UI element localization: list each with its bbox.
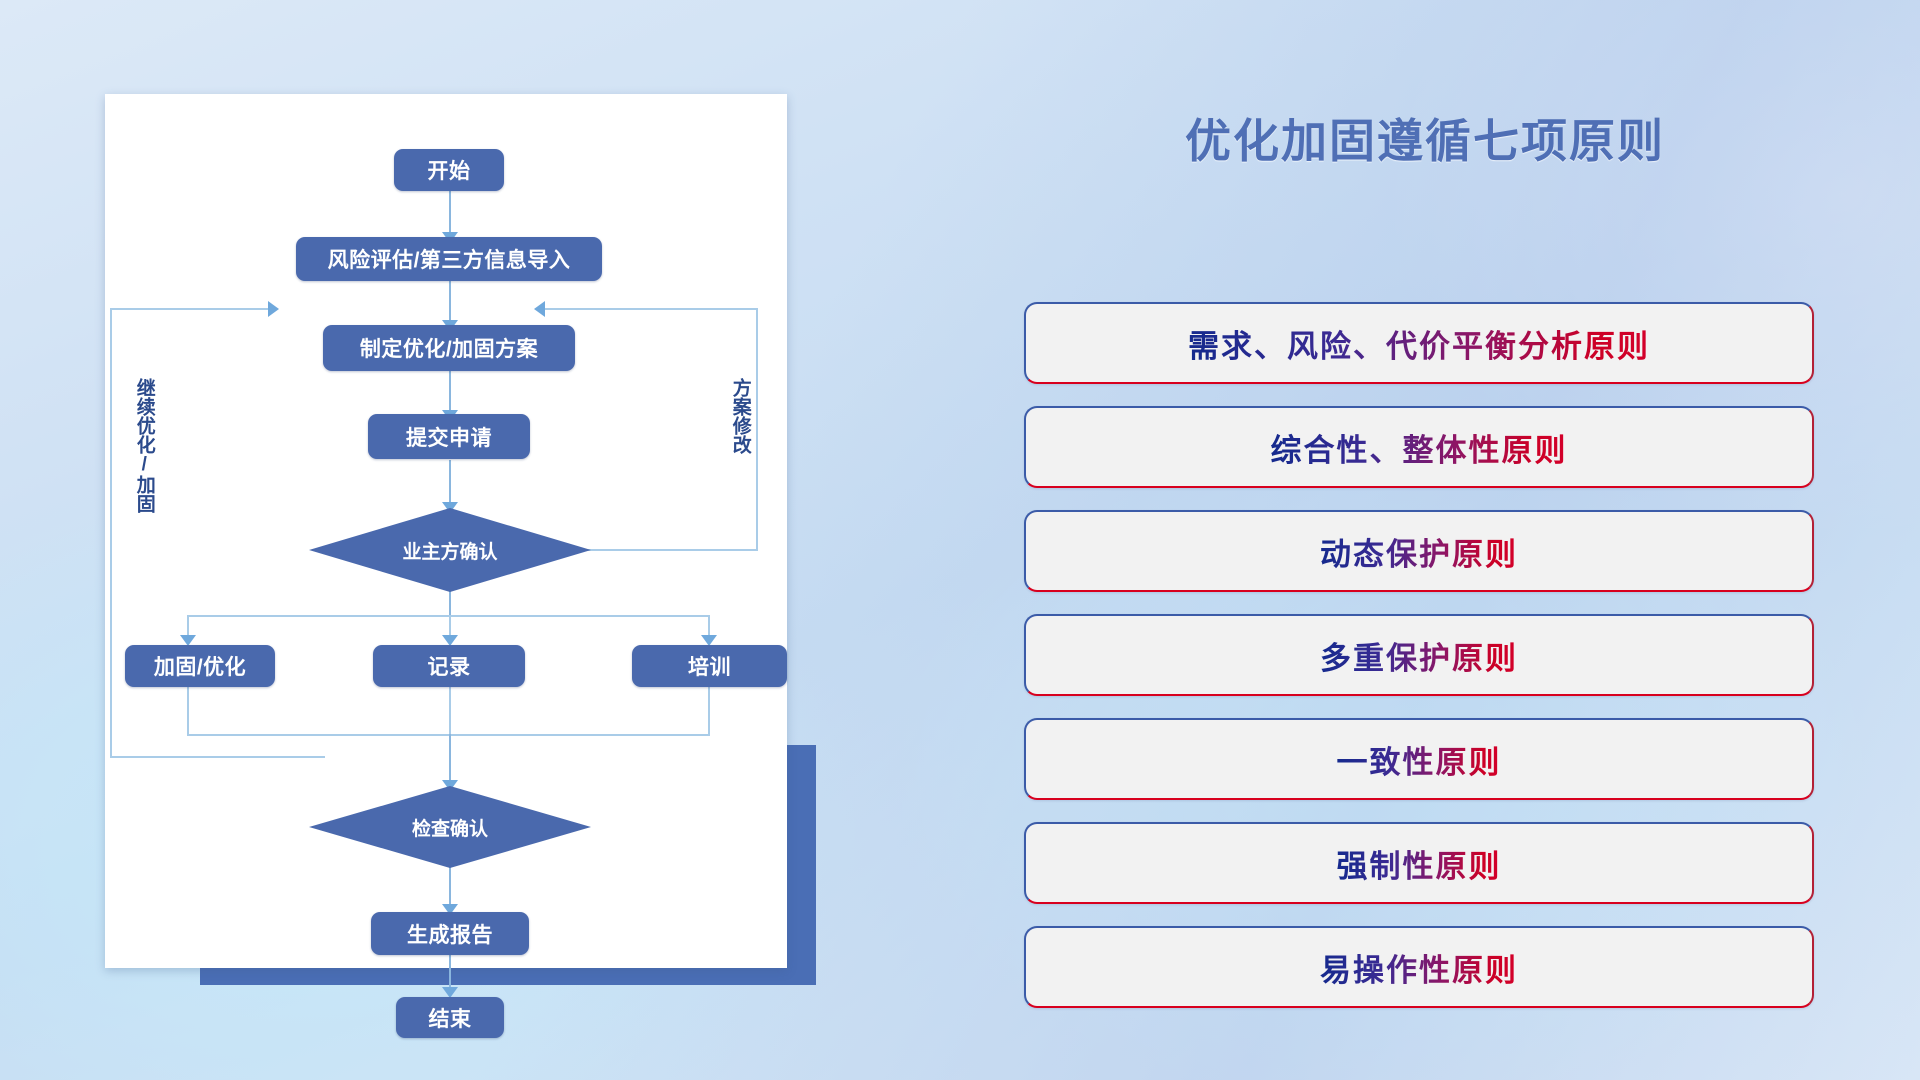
connector-rightloop-vertical	[756, 308, 758, 550]
connector-merge-to-checkcfm	[449, 734, 451, 784]
connector-ownercfm-down	[449, 591, 451, 617]
flow-node-check-confirm[interactable]: 检查确认	[309, 786, 591, 868]
connector-report-to-end	[449, 955, 451, 991]
principle-card-label: 多重保护原则	[1320, 633, 1518, 678]
arrowhead-leftloop-into-plan	[268, 301, 279, 317]
connector-leftloop-top	[110, 308, 273, 310]
connector-start-to-risk	[449, 189, 451, 237]
principle-card[interactable]: 需求、风险、代价平衡分析原则	[1024, 302, 1814, 384]
principle-card[interactable]: 强制性原则	[1024, 822, 1814, 904]
principle-card[interactable]: 多重保护原则	[1024, 614, 1814, 696]
flow-node-start[interactable]: 开始	[394, 149, 504, 191]
principle-card-label: 需求、风险、代价平衡分析原则	[1188, 321, 1650, 366]
flow-node-end[interactable]: 结束	[396, 997, 504, 1038]
flow-node-report[interactable]: 生成报告	[371, 912, 529, 955]
edge-label-continue-optimize: 继续优化/加固	[134, 378, 154, 548]
connector-reinforce-down	[187, 686, 189, 736]
principles-list: 需求、风险、代价平衡分析原则 综合性、整体性原则 动态保护原则 多重保护原则 一…	[1024, 302, 1814, 1030]
flow-node-record-label: 记录	[428, 651, 471, 681]
flow-node-risk-assessment[interactable]: 风险评估/第三方信息导入	[296, 237, 602, 281]
flow-node-reinforce[interactable]: 加固/优化	[125, 645, 275, 687]
flow-node-plan-label: 制定优化/加固方案	[360, 333, 538, 363]
flow-node-submit-label: 提交申请	[406, 422, 492, 452]
connector-leftloop-bottom	[110, 756, 325, 758]
flow-node-submit[interactable]: 提交申请	[368, 414, 530, 459]
principle-card[interactable]: 综合性、整体性原则	[1024, 406, 1814, 488]
edge-label-plan-revision: 方案修改	[730, 378, 750, 488]
connector-leftloop-vertical	[110, 308, 112, 758]
principle-card[interactable]: 动态保护原则	[1024, 510, 1814, 592]
flowchart-card: 开始 风险评估/第三方信息导入 制定优化/加固方案 提交申请 业主方确认 加固/…	[105, 94, 787, 968]
flow-node-check-confirm-label: 检查确认	[412, 814, 488, 841]
principle-card-label: 易操作性原则	[1320, 945, 1518, 990]
connector-rightloop-top	[545, 308, 758, 310]
connector-record-down	[449, 686, 451, 736]
flow-node-risk-assessment-label: 风险评估/第三方信息导入	[328, 244, 571, 274]
flow-node-training[interactable]: 培训	[632, 645, 787, 687]
arrowhead-rightloop-into-plan	[534, 301, 545, 317]
flow-node-reinforce-label: 加固/优化	[154, 651, 246, 681]
connector-submit-to-ownercfm	[449, 460, 451, 506]
flow-node-record[interactable]: 记录	[373, 645, 525, 687]
connector-risk-to-plan	[449, 280, 451, 324]
connector-training-down	[708, 686, 710, 736]
principles-panel: 优化加固遵循七项原则 需求、风险、代价平衡分析原则 综合性、整体性原则 动态保护…	[1010, 80, 1840, 1010]
panel-title: 优化加固遵循七项原则	[1010, 105, 1840, 171]
flow-node-training-label: 培训	[688, 651, 731, 681]
principle-card-label: 综合性、整体性原则	[1271, 425, 1568, 470]
flow-node-owner-confirm-label: 业主方确认	[402, 537, 497, 564]
principle-card-label: 一致性原则	[1337, 737, 1502, 782]
connector-plan-to-submit	[449, 370, 451, 414]
principle-card[interactable]: 易操作性原则	[1024, 926, 1814, 1008]
flowchart-canvas: 开始 风险评估/第三方信息导入 制定优化/加固方案 提交申请 业主方确认 加固/…	[105, 94, 787, 968]
flow-node-report-label: 生成报告	[407, 919, 493, 949]
principle-card-label: 动态保护原则	[1320, 529, 1518, 574]
flow-node-plan[interactable]: 制定优化/加固方案	[323, 325, 575, 371]
flow-node-end-label: 结束	[429, 1003, 472, 1033]
principle-card[interactable]: 一致性原则	[1024, 718, 1814, 800]
flow-node-owner-confirm[interactable]: 业主方确认	[309, 508, 591, 592]
principle-card-label: 强制性原则	[1337, 841, 1502, 886]
flow-node-start-label: 开始	[428, 155, 471, 185]
connector-checkcfm-to-report	[449, 866, 451, 908]
